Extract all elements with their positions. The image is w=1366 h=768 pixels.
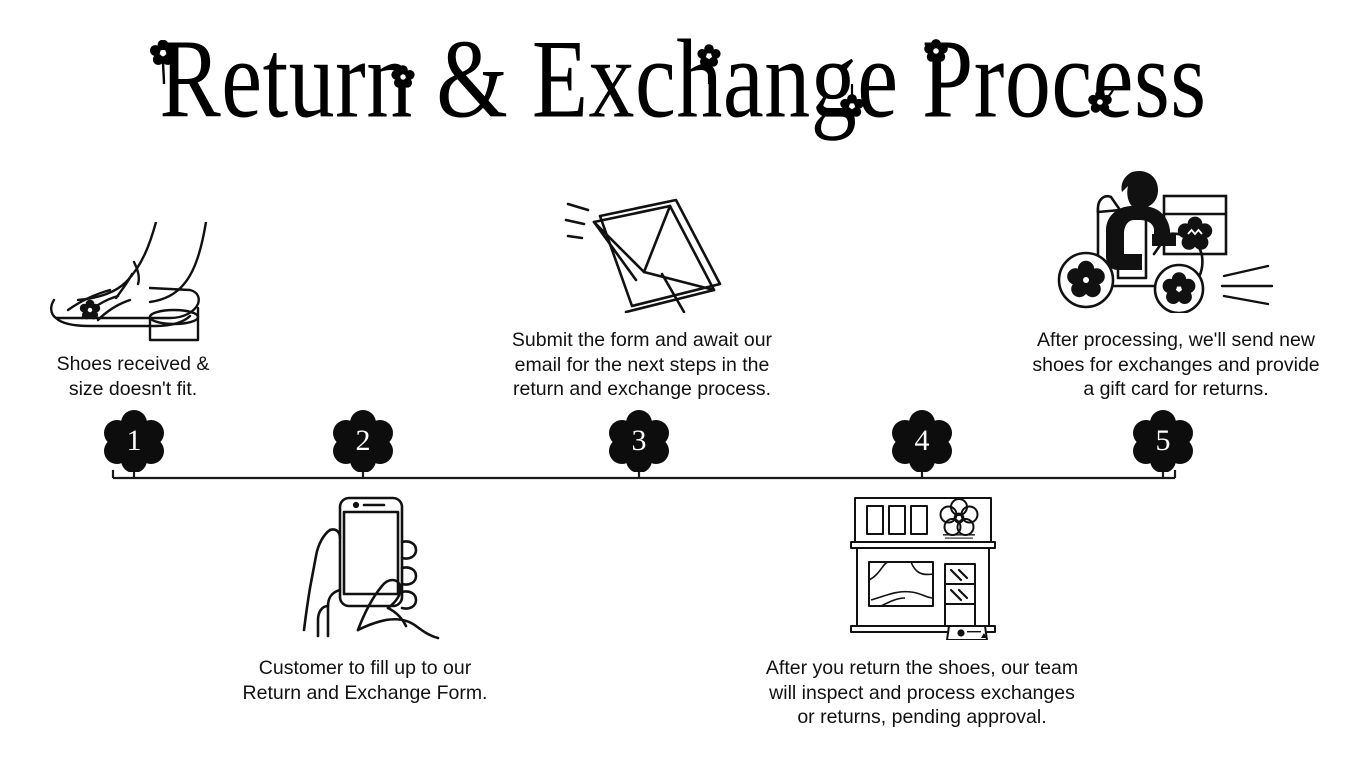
storefront-icon bbox=[845, 492, 1003, 640]
page-title: Return & Exchange Process bbox=[0, 14, 1366, 143]
step-number: 4 bbox=[891, 410, 953, 472]
step-caption-1: Shoes received & size doesn't fit. bbox=[23, 352, 243, 401]
step-number: 5 bbox=[1132, 410, 1194, 472]
step-badge-2[interactable]: 2 bbox=[332, 410, 394, 472]
step-badge-4[interactable]: 4 bbox=[891, 410, 953, 472]
sandal-foot-icon bbox=[38, 222, 238, 342]
step-caption-4: After you return the shoes, our team wil… bbox=[746, 656, 1098, 730]
step-number: 3 bbox=[608, 410, 670, 472]
step-number: 1 bbox=[103, 410, 165, 472]
step-caption-2: Customer to fill up to our Return and Ex… bbox=[215, 656, 515, 705]
step-caption-5: After processing, we'll send new shoes f… bbox=[1008, 328, 1344, 402]
envelope-icon bbox=[558, 188, 728, 313]
title-block: Return & Exchange Process bbox=[0, 14, 1366, 124]
step-badge-1[interactable]: 1 bbox=[103, 410, 165, 472]
step-badge-5[interactable]: 5 bbox=[1132, 410, 1194, 472]
step-caption-3: Submit the form and await our email for … bbox=[492, 328, 792, 402]
hand-phone-icon bbox=[288, 486, 463, 641]
step-badge-3[interactable]: 3 bbox=[608, 410, 670, 472]
step-number: 2 bbox=[332, 410, 394, 472]
delivery-scooter-icon bbox=[1036, 158, 1276, 313]
